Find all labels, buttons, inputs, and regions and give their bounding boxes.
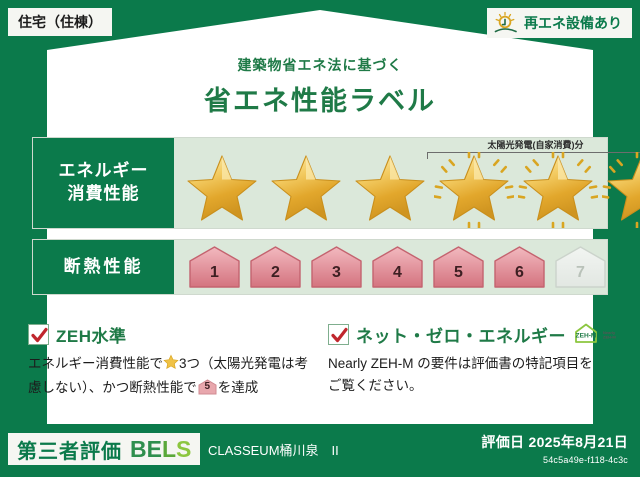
title-main: 省エネ性能ラベル [0,79,640,118]
bels-jp-label: 第三者評価 [17,435,122,464]
insulation-level-number: 1 [210,264,219,289]
insulation-level-6: 6 [493,245,546,289]
star-base [348,155,432,225]
bels-en-part1: BE [130,436,162,462]
energy-performance-key: エネルギー 消費性能 [33,138,174,228]
label-title-block: 建築物省エネ法に基づく 省エネ性能ラベル [0,55,640,118]
bels-en-part3: S [176,436,191,462]
svg-text:ZEH-M: ZEH-M [576,333,597,340]
net-zero-energy-checkbox [328,324,349,345]
insulation-level-3: 3 [310,245,363,289]
energy-key-line2: 消費性能 [68,183,140,206]
insulation-level-2: 2 [249,245,302,289]
net-zero-energy-title: ネット・ゼロ・エネルギー [356,322,566,347]
zeh-standard-title: ZEH水準 [56,322,127,347]
evaluation-id: 54c5a49e-f118-4c3c [481,455,628,465]
zeh-body-part3: を達成 [218,380,259,395]
bels-en-label: BELS [130,436,191,463]
evaluation-info: 評価日 2025年8月21日 54c5a49e-f118-4c3c [481,432,628,465]
zeh-standard-checkbox [28,324,49,345]
inline-house-icon: 5 [198,379,217,395]
energy-performance-label: 住宅（住棟） 再エネ設備あり 建築物省エネ法に基づく 省エネ性能ラベル [0,0,640,477]
insulation-level-number: 5 [454,264,463,289]
zeh-m-logo-icon: ZEH-M Nearly ZEH-M [573,322,617,346]
insulation-level-scale: 1 2 3 [174,240,607,294]
bels-en-part2: L [162,436,176,462]
insulation-level-number: 7 [576,264,585,289]
net-zero-energy-heading: ネット・ゼロ・エネルギー ZEH-M Nearly ZEH-M [328,322,600,346]
insulation-level-number: 3 [332,264,341,289]
star-solar [516,155,600,225]
bels-chip: 第三者評価 BELS [8,433,200,465]
evaluation-date: 評価日 2025年8月21日 [481,432,628,452]
zeh-standard-statement: ZEH水準 エネルギー消費性能で3つ（太陽光発電は考慮しない）、かつ断熱性能で5… [28,322,308,399]
renewable-equipment-chip: 再エネ設備あり [487,8,632,38]
insulation-level-1: 1 [188,245,241,289]
zeh-body-part1: エネルギー消費性能で [28,356,163,371]
label-footer: 第三者評価 BELS CLASSEUM桶川泉 II 評価日 2025年8月21日… [0,424,640,477]
insulation-performance-row: 断熱性能 1 2 [32,239,608,295]
insulation-performance-value: 1 2 3 [174,240,607,294]
energy-performance-value: 太陽光発電(自家消費)分 [174,138,607,228]
net-zero-energy-body: Nearly ZEH-M の要件は評価書の特記項目をご覧ください。 [328,353,600,397]
insulation-level-number: 2 [271,264,280,289]
project-name: CLASSEUM桶川泉 II [208,440,339,459]
energy-performance-row: エネルギー 消費性能 太陽光発電(自家消費)分 [32,137,608,229]
insulation-level-4: 4 [371,245,424,289]
star-solar [600,155,640,225]
svg-text:ZEH-M: ZEH-M [603,335,616,340]
energy-star-rating [174,155,607,225]
category-chip-label: 住宅（住棟） [18,12,102,32]
insulation-level-number: 6 [515,264,524,289]
net-zero-energy-statement: ネット・ゼロ・エネルギー ZEH-M Nearly ZEH-M Nearly Z… [328,322,600,397]
insulation-key-label: 断熱性能 [64,256,144,279]
insulation-level-5: 5 [432,245,485,289]
insulation-level-7: 7 [554,245,607,289]
zeh-body-starcount: 3つ（太陽光発電 [179,356,281,371]
insulation-level-number: 4 [393,264,402,289]
sun-renewable-icon [493,11,519,35]
insulation-performance-key: 断熱性能 [33,240,174,294]
zeh-standard-heading: ZEH水準 [28,322,308,346]
renewable-chip-label: 再エネ設備あり [524,13,622,33]
title-subtitle: 建築物省エネ法に基づく [0,55,640,75]
inline-star-icon [163,354,179,377]
star-base [180,155,264,225]
star-base [264,155,348,225]
energy-key-line1: エネルギー [59,160,149,183]
inline-house-level: 5 [198,379,217,395]
star-solar [432,155,516,225]
solar-annotation-label: 太陽光発電(自家消費)分 [427,140,640,151]
zeh-standard-body: エネルギー消費性能で3つ（太陽光発電は考慮しない）、かつ断熱性能で5を達成 [28,353,308,399]
category-chip: 住宅（住棟） [8,8,112,36]
